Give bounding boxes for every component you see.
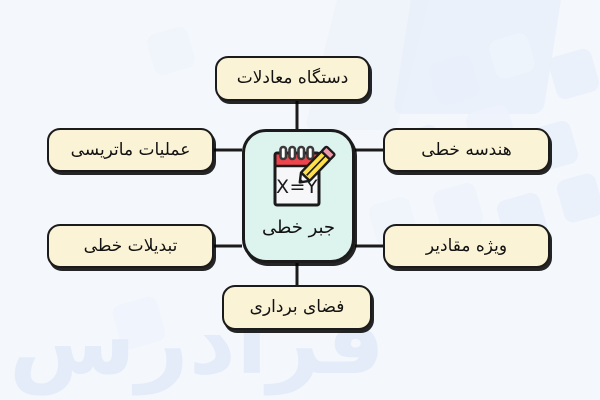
center-node-label: جبر خطی (262, 217, 335, 239)
branch-node-top[interactable]: دستگاه معادلات (215, 56, 370, 101)
branch-node-left-upper-label: عملیات ماتریسی (71, 140, 191, 160)
branch-node-left-lower-label: تبدیلات خطی (84, 236, 178, 256)
branch-node-bottom[interactable]: فضای برداری (222, 285, 372, 330)
branch-node-left-lower[interactable]: تبدیلات خطی (47, 224, 214, 268)
branch-node-right-lower-label: ویژه مقادیر (426, 236, 507, 256)
branch-node-right-lower[interactable]: ویژه مقادیر (383, 224, 550, 268)
center-node-linear-algebra[interactable]: X=Y جبر خطی (242, 129, 355, 263)
mindmap-canvas: فرادرس دستگاه معادلات عملیات ماتریسی تبد… (0, 0, 600, 400)
branch-node-right-upper[interactable]: هندسه خطی (383, 128, 550, 172)
notepad-pencil-icon: X=Y (262, 141, 336, 215)
branch-node-bottom-label: فضای برداری (250, 297, 345, 317)
branch-node-left-upper[interactable]: عملیات ماتریسی (47, 128, 214, 172)
branch-node-top-label: دستگاه معادلات (237, 68, 349, 88)
branch-node-right-upper-label: هندسه خطی (421, 140, 511, 160)
